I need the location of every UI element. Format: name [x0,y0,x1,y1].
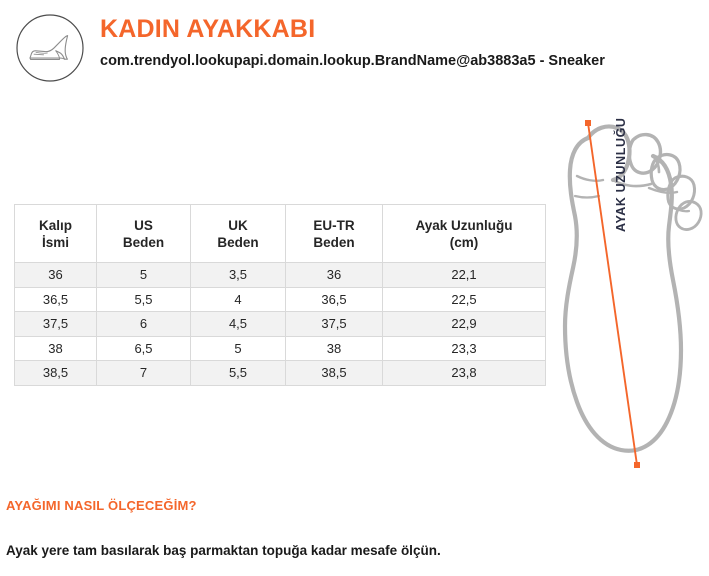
cell-eu-tr-beden: 38 [286,336,383,361]
cell-eu-tr-beden: 36,5 [286,287,383,312]
table-row: 38 6,5 5 38 23,3 [15,336,546,361]
cell-kalip-ismi: 36 [15,263,97,288]
table-row: 36,5 5,5 4 36,5 22,5 [15,287,546,312]
cell-ayak-uzunlugu: 22,5 [383,287,546,312]
header-line-1: US [134,218,153,233]
cell-us-beden: 7 [97,361,191,386]
cell-kalip-ismi: 38 [15,336,97,361]
cell-eu-tr-beden: 37,5 [286,312,383,337]
size-chart-table: Kalıp İsmi US Beden UK Beden EU-TR Beden… [14,204,546,386]
header-line-2: (cm) [450,235,479,250]
instructions-heading: AYAĞIMI NASIL ÖLÇECEĞİM? [6,498,696,513]
header-text-block: KADIN AYAKKABI com.trendyol.lookupapi.do… [100,14,700,72]
cell-uk-beden: 4,5 [191,312,286,337]
header-line-1: Kalıp [39,218,72,233]
measuring-instructions: AYAĞIMI NASIL ÖLÇECEĞİM? Ayak yere tam b… [6,498,696,558]
column-header-kalip-ismi: Kalıp İsmi [15,205,97,263]
header-line-1: UK [228,218,248,233]
column-header-eu-tr-beden: EU-TR Beden [286,205,383,263]
cell-kalip-ismi: 38,5 [15,361,97,386]
table-row: 38,5 7 5,5 38,5 23,8 [15,361,546,386]
cell-eu-tr-beden: 38,5 [286,361,383,386]
table-row: 36 5 3,5 36 22,1 [15,263,546,288]
cell-ayak-uzunlugu: 22,1 [383,263,546,288]
page-title: KADIN AYAKKABI [100,14,700,44]
cell-us-beden: 5,5 [97,287,191,312]
cell-ayak-uzunlugu: 23,3 [383,336,546,361]
cell-eu-tr-beden: 36 [286,263,383,288]
cell-uk-beden: 3,5 [191,263,286,288]
page-header: KADIN AYAKKABI com.trendyol.lookupapi.do… [0,0,709,110]
cell-us-beden: 6 [97,312,191,337]
cell-uk-beden: 5,5 [191,361,286,386]
column-header-us-beden: US Beden [97,205,191,263]
cell-uk-beden: 5 [191,336,286,361]
instructions-note: Ayak yere tam basılarak baş parmaktan to… [6,543,696,558]
header-line-1: EU-TR [313,218,354,233]
foot-length-label: AYAK UZUNLUĞU [614,117,628,232]
page-subtitle: com.trendyol.lookupapi.domain.lookup.Bra… [100,51,660,72]
header-line-1: Ayak Uzunluğu [415,218,512,233]
header-line-2: Beden [313,235,354,250]
cell-kalip-ismi: 36,5 [15,287,97,312]
header-line-2: İsmi [42,235,69,250]
header-line-2: Beden [217,235,258,250]
column-header-ayak-uzunlugu: Ayak Uzunluğu (cm) [383,205,546,263]
cell-us-beden: 5 [97,263,191,288]
measure-endpoint-top [585,120,591,126]
cell-us-beden: 6,5 [97,336,191,361]
cell-uk-beden: 4 [191,287,286,312]
cell-kalip-ismi: 37,5 [15,312,97,337]
cell-ayak-uzunlugu: 23,8 [383,361,546,386]
cell-ayak-uzunlugu: 22,9 [383,312,546,337]
header-line-2: Beden [123,235,164,250]
high-heel-shoe-icon [14,12,86,84]
table-row: 37,5 6 4,5 37,5 22,9 [15,312,546,337]
foot-length-measure-line [588,123,637,465]
measure-endpoint-bottom [634,462,640,468]
size-chart-table-container: Kalıp İsmi US Beden UK Beden EU-TR Beden… [14,204,545,386]
column-header-uk-beden: UK Beden [191,205,286,263]
table-header-row: Kalıp İsmi US Beden UK Beden EU-TR Beden… [15,205,546,263]
